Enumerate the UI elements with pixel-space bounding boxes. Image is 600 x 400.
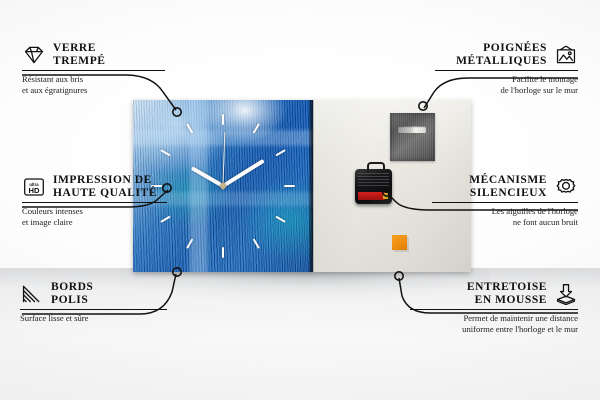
feature-desc-line-1: Surface lisse et sûre (20, 313, 168, 323)
infographic-canvas: VERRE TREMPÉ Résistant aux bris et aux é… (0, 0, 600, 400)
callout-entretoise-en-mousse: ENTRETOISE EN MOUSSE Permet de maintenir… (408, 281, 578, 334)
hanger-slot (398, 126, 426, 133)
feature-title-line-1: VERRE (53, 42, 106, 55)
feature-desc-line-2: ne font aucun bruit (430, 217, 578, 227)
quartz-movement (355, 169, 392, 204)
callout-poignees-metalliques: POIGNÉES MÉTALLIQUES Facilite le montage… (433, 42, 578, 95)
polished-edge-icon (20, 283, 44, 305)
foam-spacer-icon (554, 283, 578, 305)
hour-marker (186, 123, 193, 134)
feature-title-line-1: IMPRESSION DE (53, 174, 157, 187)
feature-desc-line-1: Facilite le montage (433, 74, 578, 84)
hour-marker (222, 247, 224, 258)
hour-hand (191, 166, 224, 187)
feature-title-line-1: MÉCANISME (469, 174, 547, 187)
movement-hook (367, 162, 385, 173)
hour-marker (275, 216, 286, 223)
hour-marker (253, 123, 260, 134)
center-pin (220, 183, 226, 189)
gear-icon (554, 176, 578, 198)
aa-battery (358, 192, 385, 200)
hour-marker (284, 185, 295, 187)
feature-desc-line-2: et image claire (22, 217, 169, 227)
callout-impression-haute-qualite: ultra HD IMPRESSION DE HAUTE QUALITÉ Cou… (22, 174, 169, 227)
product-image (133, 100, 470, 272)
callout-verre-trempe: VERRE TREMPÉ Résistant aux bris et aux é… (22, 42, 167, 95)
hour-marker (275, 149, 286, 156)
ultra-hd-icon: ultra HD (22, 176, 46, 198)
feature-title-line-2: SILENCIEUX (470, 187, 547, 200)
hour-marker (253, 238, 260, 249)
feature-desc-line-2: de l'horloge sur le mur (433, 85, 578, 95)
callout-bords-polis: BORDS POLIS Surface lisse et sûre (20, 281, 168, 324)
feature-desc-line-1: Les aiguilles de l'horloge (430, 206, 578, 216)
diamond-icon (22, 44, 46, 66)
feature-title-line-2: MÉTALLIQUES (456, 55, 547, 68)
metal-hanger-plate (390, 113, 435, 161)
callout-mecanisme-silencieux: MÉCANISME SILENCIEUX Les aiguilles de l'… (430, 174, 578, 227)
feature-desc-line-2: et aux égratignures (22, 85, 167, 95)
feature-title-line-1: ENTRETOISE (467, 281, 547, 294)
picture-hanger-icon (554, 44, 578, 66)
feature-title-line-2: EN MOUSSE (475, 294, 547, 307)
minute-hand (222, 159, 265, 188)
hour-marker (186, 238, 193, 249)
hour-marker (222, 114, 224, 125)
leader-endpoint-entretoise (395, 272, 403, 280)
feature-desc-line-1: Couleurs intenses (22, 206, 169, 216)
feature-desc-line-1: Permet de maintenir une distance (408, 313, 578, 323)
hour-marker (160, 149, 171, 156)
feature-title-line-1: POIGNÉES (483, 42, 547, 55)
feature-title-line-1: BORDS (51, 281, 93, 294)
feature-desc-line-2: uniforme entre l'horloge et le mur (408, 324, 578, 334)
foam-spacer-pad (392, 235, 407, 250)
svg-text:HD: HD (29, 185, 40, 194)
feature-title-line-2: POLIS (51, 294, 93, 307)
feature-desc-line-1: Résistant aux bris (22, 74, 167, 84)
feature-title-line-2: HAUTE QUALITÉ (53, 187, 157, 200)
feature-title-line-2: TREMPÉ (53, 55, 106, 68)
